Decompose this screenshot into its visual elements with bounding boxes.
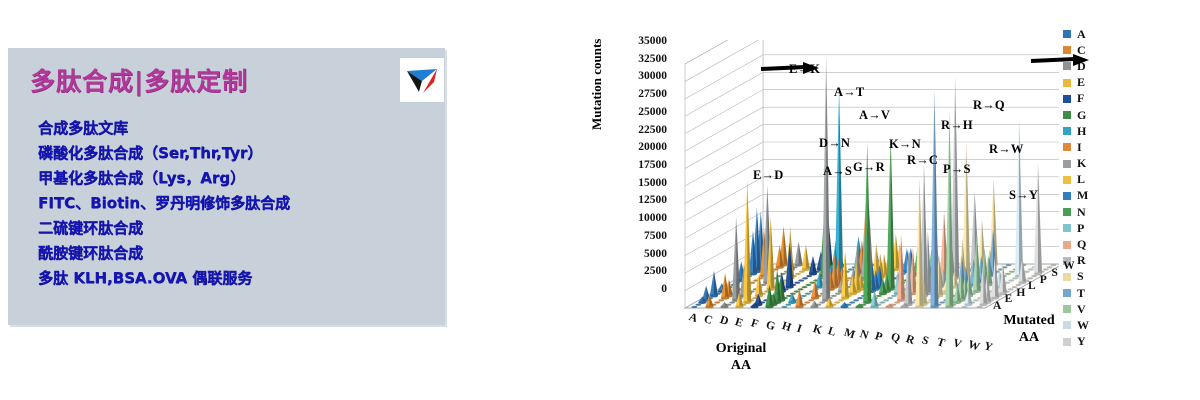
x-axis-title: OriginalAA [681, 340, 801, 374]
legend-label: E [1077, 75, 1085, 90]
list-item: 酰胺键环肽合成 [38, 241, 438, 266]
y-axis-tick: 25000 [638, 106, 667, 118]
legend-swatch-icon [1063, 192, 1071, 200]
data-point-annotation: A→T [834, 85, 864, 100]
legend-label: A [1077, 27, 1086, 42]
x-axis-tick-label: W [967, 338, 982, 353]
page-title: 多肽合成|多肽定制 [30, 62, 248, 98]
z-axis-tick-label: E [1005, 293, 1013, 305]
data-point-annotation: G→R [853, 160, 885, 175]
legend-label: S [1077, 269, 1084, 284]
legend-item[interactable]: I [1063, 139, 1123, 155]
legend-item[interactable]: E [1063, 75, 1123, 91]
x-axis-tick-label: M [842, 326, 856, 341]
service-list: 合成多肽文库 磷酸化多肽合成（Ser,Thr,Tyr） 甲基化多肽合成（Lys，… [38, 116, 438, 291]
promo-panel: 多肽合成|多肽定制 合成多肽文库 磷酸化多肽合成（Ser,Thr,Tyr） 甲基… [8, 48, 445, 325]
legend-swatch-icon [1063, 241, 1071, 249]
legend-swatch-icon [1063, 224, 1071, 232]
x-axis-title-line: AA [681, 357, 801, 374]
y-axis-tick: 7500 [644, 230, 667, 242]
z-axis-tick-label: A [993, 300, 1001, 312]
legend-item[interactable]: M [1063, 188, 1123, 204]
y-axis-tick: 2500 [644, 265, 667, 277]
legend-swatch-icon [1063, 305, 1071, 313]
y-axis-tick: 22500 [638, 124, 667, 136]
legend-label: K [1077, 156, 1086, 171]
z-axis-tick-label: H [1016, 287, 1025, 299]
x-axis-tick-label: K [811, 323, 823, 337]
legend-swatch-icon [1063, 338, 1071, 346]
y-axis-tick: 15000 [638, 177, 667, 189]
data-point-annotation: P→S [943, 162, 971, 177]
legend-label: H [1077, 124, 1086, 139]
x-axis-tick-label: S [920, 335, 930, 348]
x-axis-tick-label: P [873, 330, 883, 344]
data-point-annotation: E→D [753, 168, 783, 183]
legend-item[interactable]: K [1063, 156, 1123, 172]
legend-item[interactable]: L [1063, 172, 1123, 188]
x-axis-tick-label: N [858, 328, 870, 342]
x-axis-tick-label: Q [889, 331, 901, 345]
legend-swatch-icon [1063, 127, 1071, 135]
mutation-counts-3d-chart: Mutation counts 350003250030000275002500… [595, 18, 1195, 388]
legend-label: L [1077, 172, 1085, 187]
data-point-annotation: R→W [989, 142, 1024, 157]
y-axis-tick: 35000 [638, 35, 667, 47]
data-point-annotation: D→N [819, 136, 850, 151]
legend-label: Y [1077, 334, 1086, 349]
x-axis-tick-label: Y [982, 340, 994, 354]
legend-swatch-icon [1063, 289, 1071, 297]
legend-item[interactable]: V [1063, 301, 1123, 317]
legend-swatch-icon [1063, 143, 1071, 151]
legend-label: Q [1077, 237, 1086, 252]
x-axis-tick-label: L [827, 325, 838, 339]
list-item: 合成多肽文库 [38, 116, 438, 141]
plot-area [671, 40, 1059, 330]
y-axis-tick: 10000 [638, 212, 667, 224]
y-axis-tick: 0 [661, 283, 667, 295]
trend-arrow-icon [1029, 52, 1091, 73]
list-item: 甲基化多肽合成（Lys，Arg） [38, 166, 438, 191]
y-axis-tick: 30000 [638, 70, 667, 82]
trend-arrow-icon [759, 60, 821, 81]
legend-swatch-icon [1063, 111, 1071, 119]
y-axis-tick: 12500 [638, 194, 667, 206]
legend-item[interactable]: N [1063, 204, 1123, 220]
legend-label: F [1077, 91, 1084, 106]
legend-label: P [1077, 221, 1084, 236]
legend-label: G [1077, 108, 1086, 123]
x-axis-title-line: Original [681, 340, 801, 357]
legend-item[interactable]: H [1063, 123, 1123, 139]
tri-color-chevron-logo-icon [400, 58, 444, 102]
legend-item[interactable]: Y [1063, 334, 1123, 350]
z-axis-tick-label: S [1051, 267, 1057, 279]
list-item: FITC、Biotin、罗丹明修饰多肽合成 [38, 191, 438, 216]
legend-swatch-icon [1063, 176, 1071, 184]
legend-label: M [1077, 188, 1088, 203]
legend-label: I [1077, 140, 1082, 155]
legend-swatch-icon [1063, 30, 1071, 38]
y-axis-tick: 32500 [638, 53, 667, 65]
legend-item[interactable]: G [1063, 107, 1123, 123]
y-axis-tick: 27500 [638, 88, 667, 100]
legend-label: T [1077, 286, 1085, 301]
legend-swatch-icon [1063, 95, 1071, 103]
data-point-annotation: S→Y [1009, 188, 1038, 203]
z-axis-tick-label: P [1040, 274, 1047, 286]
legend-item[interactable]: T [1063, 285, 1123, 301]
y-axis-tick: 5000 [644, 248, 667, 260]
legend-item[interactable]: F [1063, 91, 1123, 107]
y-axis-tick: 17500 [638, 159, 667, 171]
y-axis-title: Mutation counts [589, 39, 605, 130]
y-axis-tick: 20000 [638, 141, 667, 153]
data-point-annotation: R→C [907, 153, 938, 168]
x-axis-tick-label: R [905, 333, 917, 347]
x-axis-tick-label: V [951, 337, 963, 351]
data-point-annotation: A→S [823, 164, 852, 179]
legend-label: V [1077, 302, 1086, 317]
data-point-annotation: K→N [889, 137, 921, 152]
legend-label: N [1077, 205, 1086, 220]
legend-swatch-icon [1063, 273, 1071, 281]
x-axis-tick-label: G [765, 319, 777, 333]
legend-item[interactable]: Q [1063, 236, 1123, 252]
list-item: 多肽 KLH,BSA.OVA 偶联服务 [38, 266, 438, 291]
list-item: 磷酸化多肽合成（Ser,Thr,Tyr） [38, 141, 438, 166]
z-axis-tick-label: W [1063, 260, 1075, 272]
legend-swatch-icon [1063, 208, 1071, 216]
legend-swatch-icon [1063, 160, 1071, 168]
data-point-annotation: R→Q [973, 98, 1005, 113]
z-axis-tick-label: L [1028, 280, 1036, 292]
x-axis-tick-label: H [780, 320, 792, 334]
list-item: 二硫键环肽合成 [38, 216, 438, 241]
data-point-annotation: A→V [859, 108, 890, 123]
legend-item[interactable]: A [1063, 26, 1123, 42]
legend-swatch-icon [1063, 79, 1071, 87]
legend-label: R [1077, 253, 1086, 268]
legend: ACDEFGHIKLMNPQRSTVWY [1063, 26, 1123, 350]
legend-item[interactable]: W [1063, 317, 1123, 333]
legend-item[interactable]: P [1063, 220, 1123, 236]
x-axis-tick-label: T [936, 336, 947, 350]
legend-swatch-icon [1063, 321, 1071, 329]
data-point-annotation: R→H [941, 118, 973, 133]
y-axis-ticks: 3500032500300002750025000225002000017500… [605, 42, 667, 290]
legend-label: W [1077, 318, 1089, 333]
